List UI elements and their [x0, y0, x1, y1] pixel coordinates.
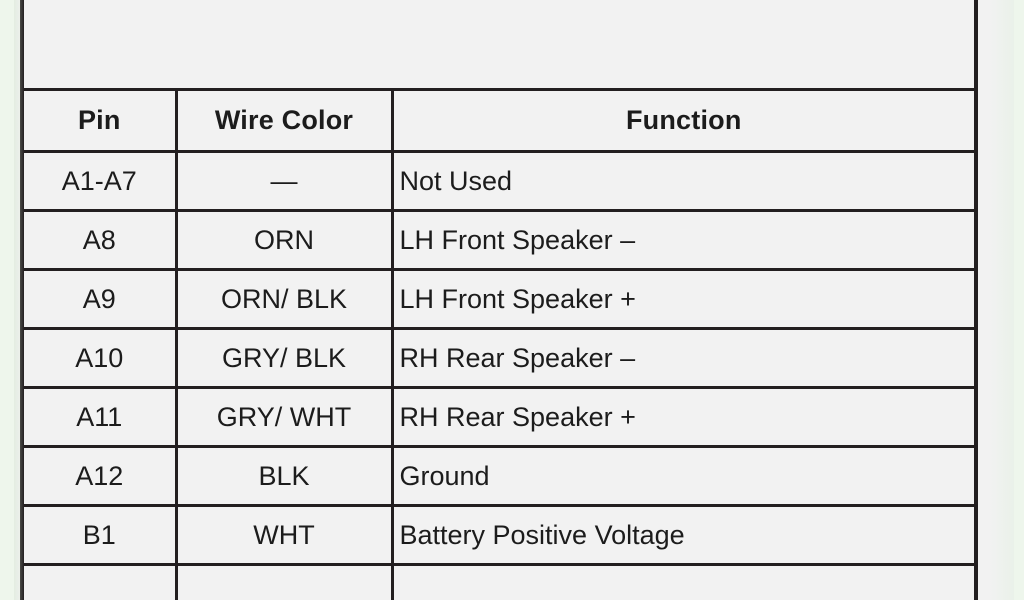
column-header-function: Function [392, 90, 974, 152]
cell-wire-color: ORN [176, 211, 392, 270]
table-row: A10 GRY/ BLK RH Rear Speaker – [24, 329, 974, 388]
table-row: A8 ORN LH Front Speaker – [24, 211, 974, 270]
column-header-pin: Pin [24, 90, 176, 152]
cell-function: RH Rear Speaker + [392, 388, 974, 447]
cell-function: RH Rear Speaker – [392, 329, 974, 388]
table-row: A12 BLK Ground [24, 447, 974, 506]
cell-function [392, 565, 974, 600]
cell-function: Battery Positive Voltage [392, 506, 974, 565]
cell-pin: A8 [24, 211, 176, 270]
pinout-table-container: Pin Wire Color Function A1-A7 — Not Used… [20, 0, 978, 600]
cell-function: Not Used [392, 152, 974, 211]
cell-function: LH Front Speaker – [392, 211, 974, 270]
cell-pin: A1-A7 [24, 152, 176, 211]
cell-pin: A11 [24, 388, 176, 447]
cell-pin: A12 [24, 447, 176, 506]
cell-function: Ground [392, 447, 974, 506]
header-row: Pin Wire Color Function [24, 90, 974, 152]
table-header: Pin Wire Color Function [24, 90, 974, 152]
column-header-wire-color: Wire Color [176, 90, 392, 152]
cell-wire-color [176, 565, 392, 600]
cell-wire-color: WHT [176, 506, 392, 565]
table-caption-strip [24, 0, 974, 88]
table-row: A9 ORN/ BLK LH Front Speaker + [24, 270, 974, 329]
cell-pin: A10 [24, 329, 176, 388]
cell-wire-color: BLK [176, 447, 392, 506]
scanned-page: Pin Wire Color Function A1-A7 — Not Used… [14, 0, 1014, 600]
table-body: A1-A7 — Not Used A8 ORN LH Front Speaker… [24, 152, 974, 600]
table-row: B1 WHT Battery Positive Voltage [24, 506, 974, 565]
cell-pin [24, 565, 176, 600]
cell-pin: A9 [24, 270, 176, 329]
cell-wire-color: ORN/ BLK [176, 270, 392, 329]
pinout-table: Pin Wire Color Function A1-A7 — Not Used… [24, 88, 974, 600]
cell-wire-color: GRY/ WHT [176, 388, 392, 447]
table-row [24, 565, 974, 600]
cell-function: LH Front Speaker + [392, 270, 974, 329]
table-row: A1-A7 — Not Used [24, 152, 974, 211]
cell-pin: B1 [24, 506, 176, 565]
cell-wire-color: — [176, 152, 392, 211]
cell-wire-color: GRY/ BLK [176, 329, 392, 388]
table-row: A11 GRY/ WHT RH Rear Speaker + [24, 388, 974, 447]
